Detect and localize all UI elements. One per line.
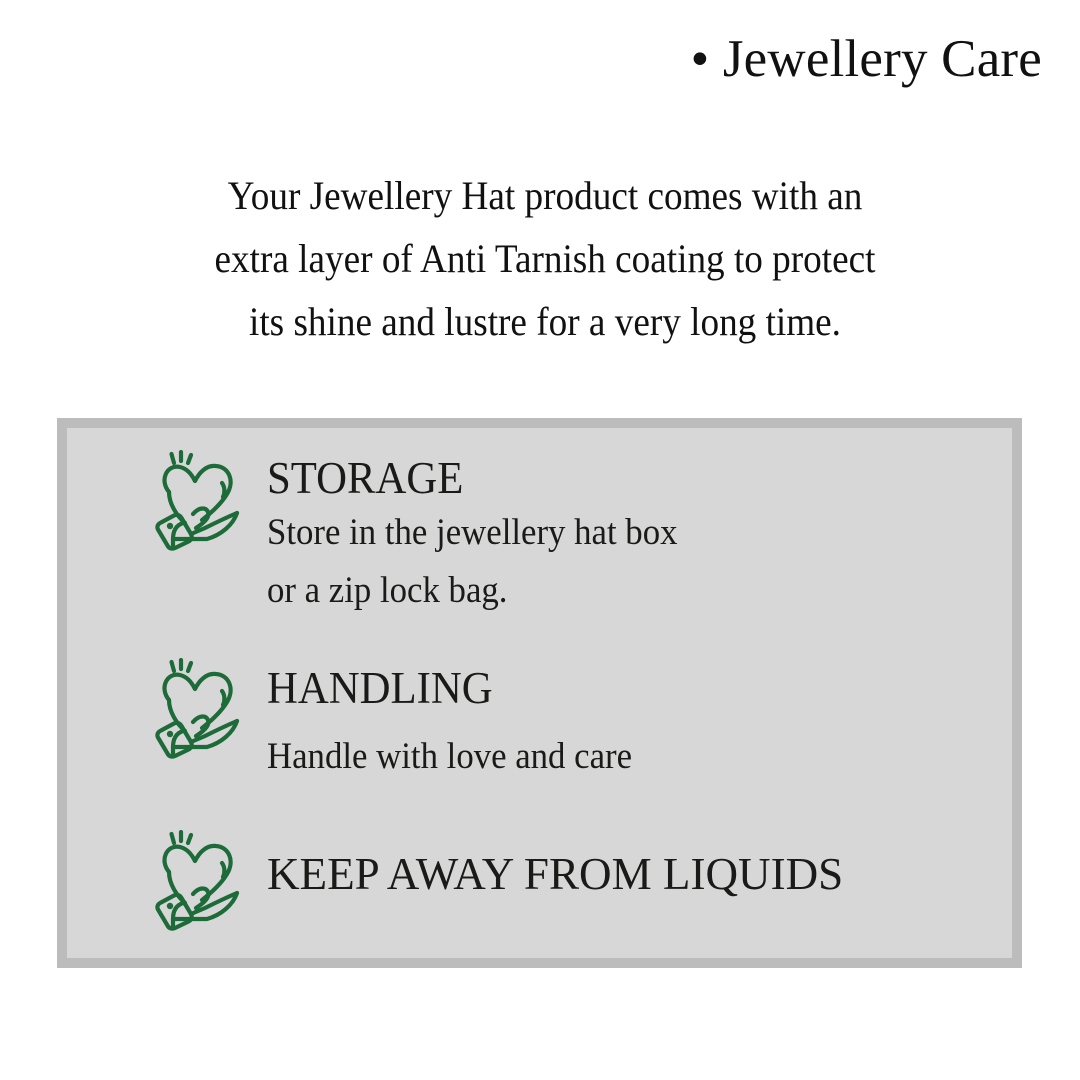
care-text-handling: HANDLING Handle with love and care (267, 658, 655, 786)
care-subtext-handling-line-1: Handle with love and care (267, 728, 632, 786)
care-subtext-storage-line-1: Store in the jewellery hat box (267, 504, 677, 562)
care-heading-handling: HANDLING (267, 662, 636, 714)
care-row-storage: STORAGE Store in the jewellery hat box o… (147, 450, 704, 620)
page-title-row: • Jewellery Care (0, 30, 1042, 88)
intro-line-3: its shine and lustre for a very long tim… (103, 290, 987, 353)
care-text-storage: STORAGE Store in the jewellery hat box o… (267, 450, 704, 620)
intro-line-1: Your Jewellery Hat product comes with an (103, 164, 987, 227)
care-subtext-storage-line-2: or a zip lock bag. (267, 562, 677, 620)
intro-line-2: extra layer of Anti Tarnish coating to p… (103, 227, 987, 290)
page-title: • Jewellery Care (691, 30, 1042, 88)
heart-in-hand-icon (147, 658, 251, 762)
care-instructions-panel: STORAGE Store in the jewellery hat box o… (57, 418, 1022, 968)
care-heading-liquids: KEEP AWAY FROM LIQUIDS (267, 848, 843, 900)
care-text-liquids: KEEP AWAY FROM LIQUIDS (267, 830, 855, 900)
care-heading-storage: STORAGE (267, 452, 682, 504)
care-row-handling: HANDLING Handle with love and care (147, 658, 655, 786)
care-row-liquids: KEEP AWAY FROM LIQUIDS (147, 830, 855, 934)
heart-in-hand-icon (147, 450, 251, 554)
intro-paragraph: Your Jewellery Hat product comes with an… (70, 164, 1020, 353)
heart-in-hand-icon (147, 830, 251, 934)
